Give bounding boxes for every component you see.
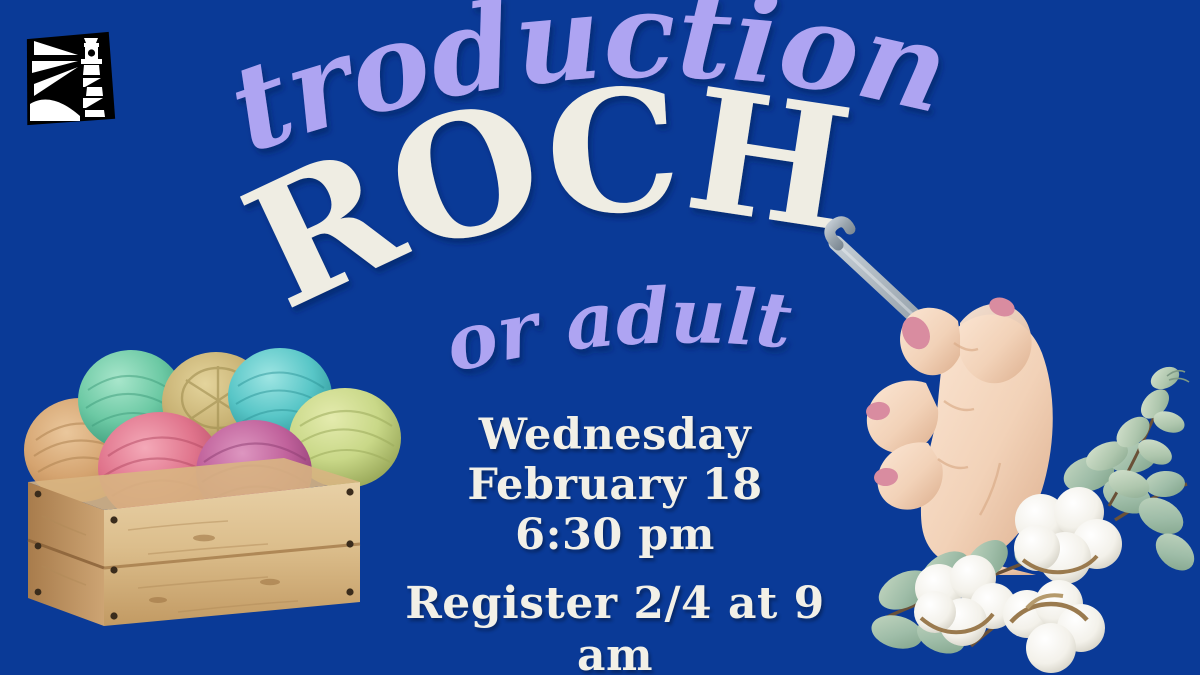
title-line-2: CROCHET	[0, 0, 860, 347]
title-line-1: Introduction to	[0, 0, 1006, 179]
event-time: 6:30 pm	[380, 510, 850, 560]
yarn-crate-illustration	[8, 330, 408, 665]
lighthouse-logo[interactable]	[22, 28, 116, 128]
registration-info: Register 2/4 at 9 am	[360, 578, 870, 675]
event-day: Wednesday	[380, 410, 850, 460]
event-details: Wednesday February 18 6:30 pm	[380, 410, 850, 560]
event-date: February 18	[380, 460, 850, 510]
sprig-leaves	[1082, 362, 1188, 502]
wooden-crate	[28, 458, 360, 626]
eucalyptus-sprig	[1085, 360, 1200, 510]
crochet-event-flyer: Introduction to CROCHET for adults Wedne…	[0, 0, 1200, 675]
